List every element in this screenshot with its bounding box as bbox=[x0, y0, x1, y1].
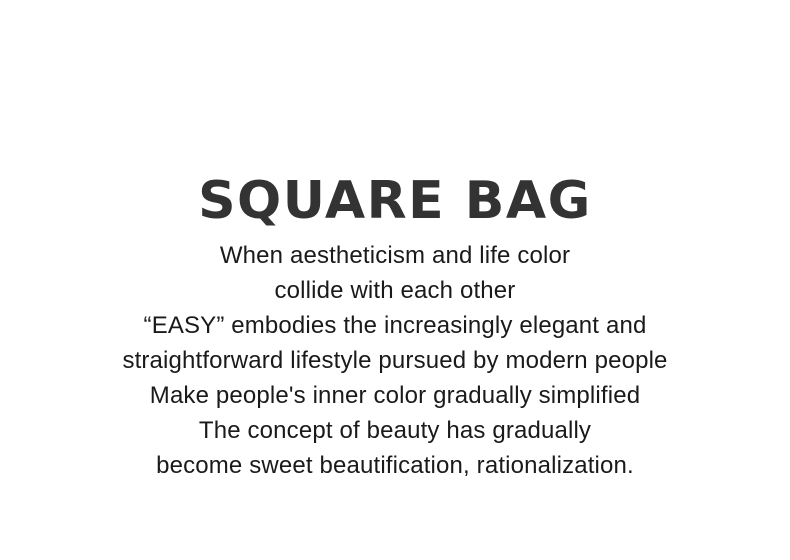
description-line: The concept of beauty has gradually bbox=[0, 413, 790, 448]
description-line: collide with each other bbox=[0, 273, 790, 308]
description-line: become sweet beautification, rationaliza… bbox=[0, 448, 790, 483]
description-line: straightforward lifestyle pursued by mod… bbox=[0, 343, 790, 378]
page-title: SQUARE BAG bbox=[0, 175, 790, 227]
product-description-banner: SQUARE BAG When aestheticism and life co… bbox=[0, 0, 790, 560]
description-line: Make people's inner color gradually simp… bbox=[0, 378, 790, 413]
product-description: When aestheticism and life color collide… bbox=[0, 238, 790, 483]
description-line: “EASY” embodies the increasingly elegant… bbox=[0, 308, 790, 343]
description-line: When aestheticism and life color bbox=[0, 238, 790, 273]
